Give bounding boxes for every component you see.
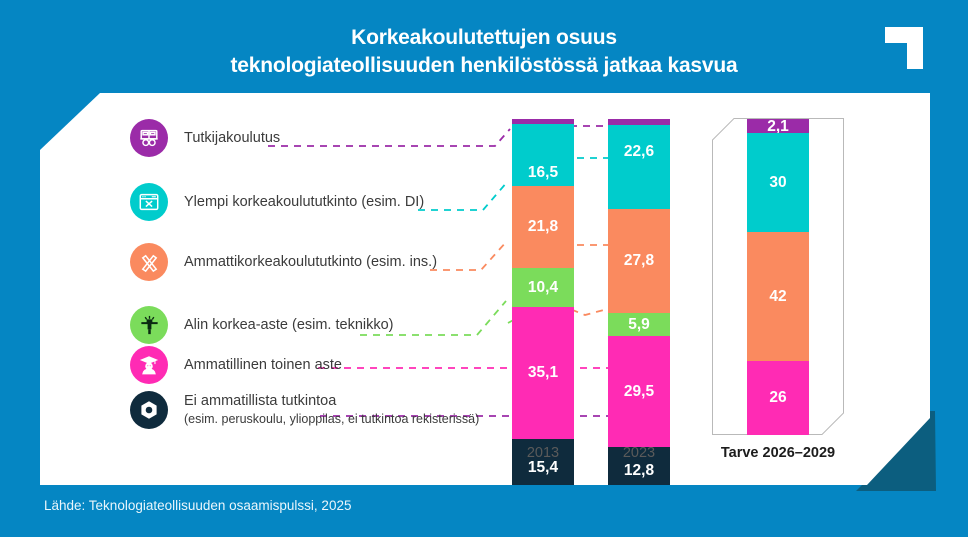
bar-segment-ammatillinen: 35,1 bbox=[512, 307, 574, 439]
title-line-1: Korkeakoulutettujen osuus bbox=[0, 24, 968, 52]
bar-segment-alin: 5,9 bbox=[608, 313, 670, 336]
title-line-2: teknologiateollisuuden henkilöstössä jat… bbox=[0, 52, 968, 80]
bar-segment-alin: 10,4 bbox=[512, 268, 574, 307]
teknologiateollisuus-logo bbox=[885, 27, 923, 69]
bar-segment-tutkijakoulutus: 2,1 bbox=[747, 119, 809, 133]
bar-segment-ammatillinen: 26 bbox=[747, 361, 809, 435]
bar-segment-amk: 27,8 bbox=[608, 209, 670, 313]
stacked-bar-chart: 0,8 16,5 21,8 10,4 35,1 15,4 2013 1,3 bbox=[40, 93, 930, 485]
page-title: Korkeakoulutettujen osuus teknologiateol… bbox=[0, 24, 968, 80]
bar-column-2013[interactable]: 0,8 16,5 21,8 10,4 35,1 15,4 bbox=[512, 119, 574, 497]
x-axis-label-2023: 2023 bbox=[579, 445, 699, 461]
bar-column-tarve[interactable]: 2,1 30 42 26 bbox=[747, 119, 809, 435]
bar-segment-ylempi: 16,5 bbox=[512, 124, 574, 186]
logo-vertical-bar bbox=[907, 27, 923, 69]
bar-segment-amk: 21,8 bbox=[512, 186, 574, 268]
source-note: Lähde: Teknologiateollisuuden osaamispul… bbox=[44, 498, 351, 513]
chart-card: Tutkijakoulutus Ylempi korkeakoulututkin… bbox=[40, 93, 930, 485]
bar-segment-ylempi: 30 bbox=[747, 133, 809, 232]
x-axis-label-tarve: Tarve 2026–2029 bbox=[718, 445, 838, 461]
bar-segment-ammatillinen: 29,5 bbox=[608, 336, 670, 447]
bar-column-2023[interactable]: 1,3 22,6 27,8 5,9 29,5 12,8 bbox=[608, 119, 670, 495]
bar-segment-ylempi: 22,6 bbox=[608, 125, 670, 209]
bar-segment-amk: 42 bbox=[747, 232, 809, 361]
